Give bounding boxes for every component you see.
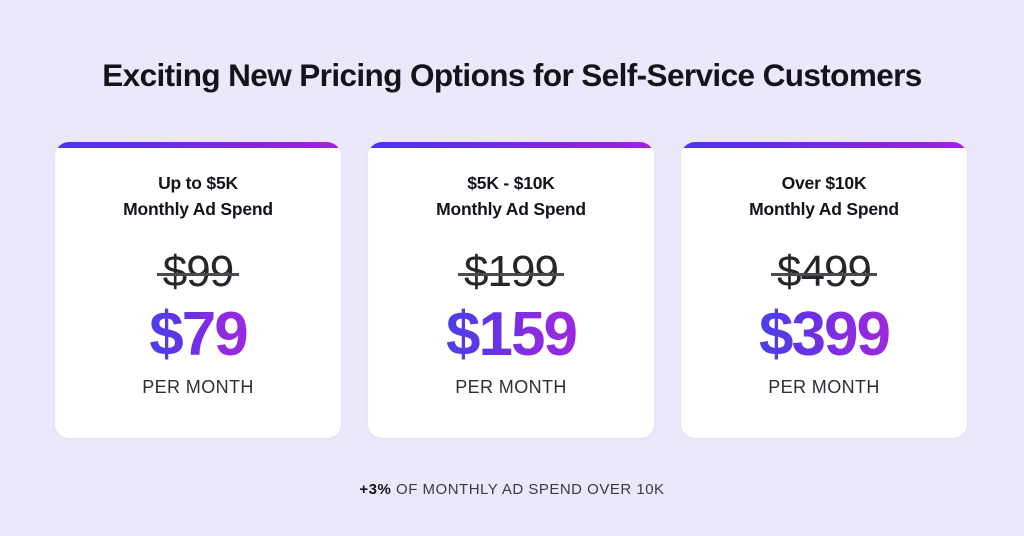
original-price-value: $499 [777,247,871,296]
pricing-card-tier-3[interactable]: Over $10K Monthly Ad Spend $499 $399 PER… [681,142,967,438]
original-price: $499 [771,247,877,297]
pricing-page: Exciting New Pricing Options for Self-Se… [0,0,1024,536]
page-title: Exciting New Pricing Options for Self-Se… [0,55,1024,95]
discounted-price: $159 [446,299,576,371]
card-heading: $5K - $10K Monthly Ad Spend [436,170,586,222]
card-body: $5K - $10K Monthly Ad Spend $199 $159 PE… [368,148,654,438]
original-price-value: $199 [464,247,558,296]
card-heading-line-2: Monthly Ad Spend [749,196,899,222]
card-body: Over $10K Monthly Ad Spend $499 $399 PER… [681,148,967,438]
discounted-price: $399 [759,299,889,371]
pricing-card-tier-1[interactable]: Up to $5K Monthly Ad Spend $99 $79 PER M… [55,142,341,438]
pricing-card-list: Up to $5K Monthly Ad Spend $99 $79 PER M… [55,142,967,438]
card-body: Up to $5K Monthly Ad Spend $99 $79 PER M… [55,148,341,438]
strikethrough-line [771,273,877,276]
original-price: $199 [458,247,564,297]
card-heading-line-1: $5K - $10K [467,173,555,193]
original-price-value: $99 [163,247,233,296]
original-price: $99 [157,247,239,297]
footnote: +3% OF MONTHLY AD SPEND OVER 10K [0,479,1024,501]
billing-period-label: PER MONTH [455,375,567,399]
discounted-price: $79 [149,299,246,371]
strikethrough-line [458,273,564,276]
card-heading-line-1: Up to $5K [158,173,238,193]
pricing-card-tier-2[interactable]: $5K - $10K Monthly Ad Spend $199 $159 PE… [368,142,654,438]
card-heading-line-2: Monthly Ad Spend [436,196,586,222]
card-heading-line-2: Monthly Ad Spend [123,196,273,222]
billing-period-label: PER MONTH [768,375,880,399]
card-heading-line-1: Over $10K [782,173,867,193]
strikethrough-line [157,273,239,276]
footnote-text: OF MONTHLY AD SPEND OVER 10K [391,481,664,498]
billing-period-label: PER MONTH [142,375,254,399]
footnote-emphasis: +3% [359,481,391,498]
card-heading: Up to $5K Monthly Ad Spend [123,170,273,222]
card-heading: Over $10K Monthly Ad Spend [749,170,899,222]
